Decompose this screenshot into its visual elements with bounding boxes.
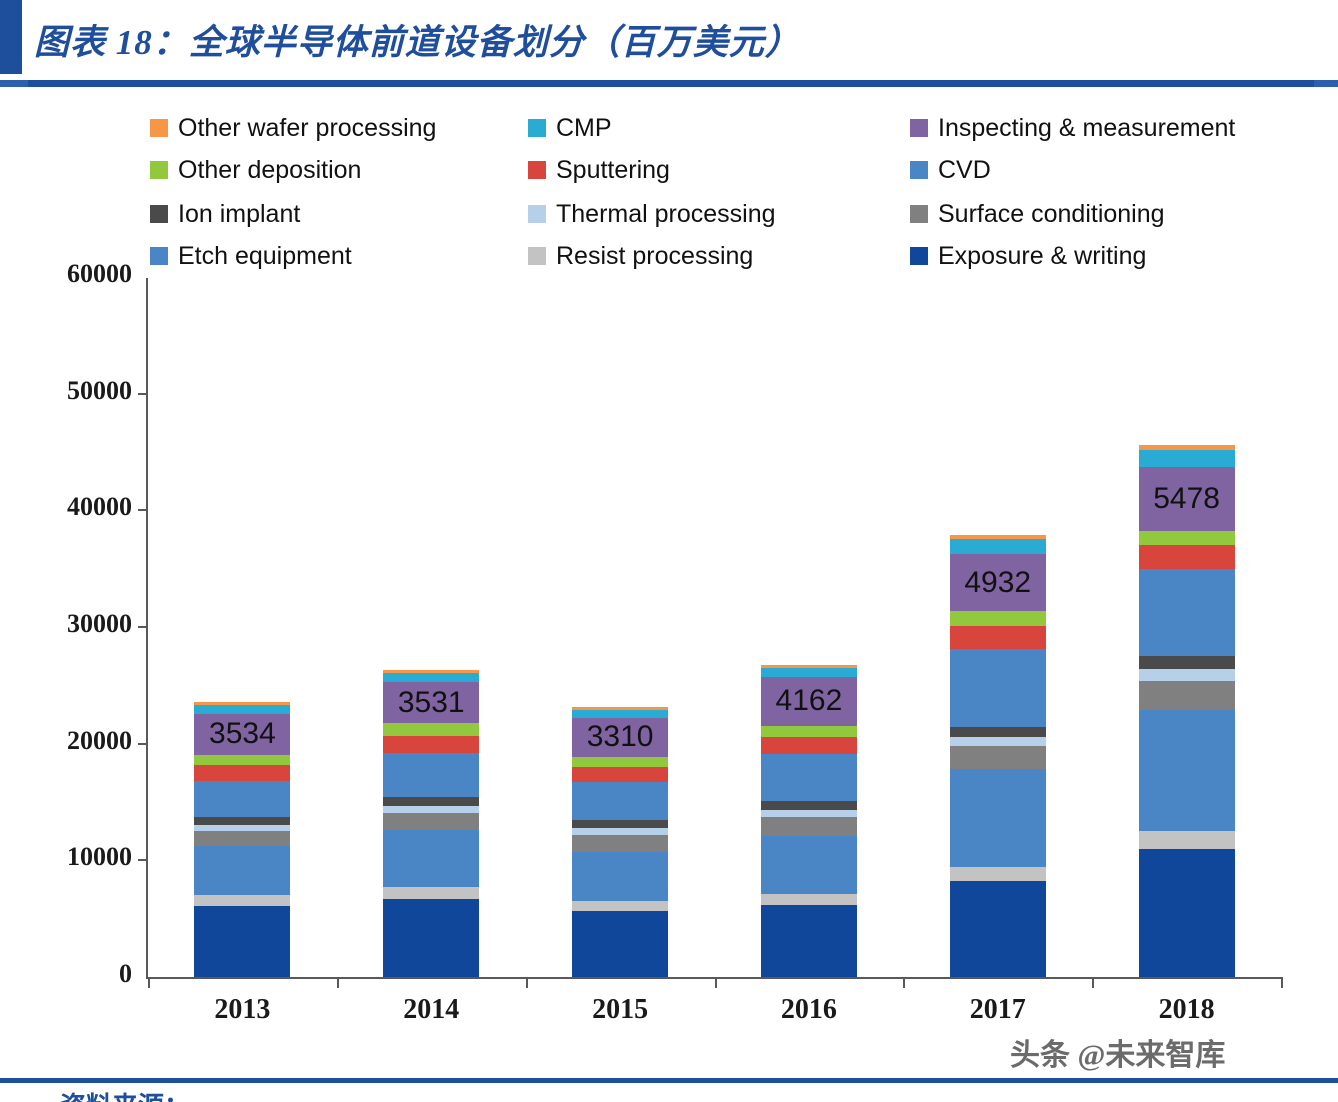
y-axis-tick-label: 60000: [12, 259, 132, 289]
legend-item-label: Inspecting & measurement: [938, 114, 1235, 143]
bar-segment[interactable]: [1139, 450, 1235, 468]
bar-segment[interactable]: [383, 887, 479, 899]
y-axis-tick-label: 0: [12, 959, 132, 989]
legend-item-label: Exposure & writing: [938, 242, 1146, 271]
x-axis-line: [146, 977, 1281, 979]
y-axis-line: [146, 278, 148, 978]
bar-segment[interactable]: 4162: [761, 677, 857, 726]
legend-swatch-icon: [528, 161, 546, 179]
bar-segment[interactable]: [194, 781, 290, 817]
legend-swatch-icon: [150, 119, 168, 137]
stacked-bar[interactable]: 5478: [1139, 445, 1235, 977]
bar-segment[interactable]: 3531: [383, 682, 479, 723]
bar-segment[interactable]: [1139, 849, 1235, 977]
bar-segment[interactable]: [194, 831, 290, 846]
bar-segment[interactable]: [950, 769, 1046, 867]
bar-segment[interactable]: [761, 894, 857, 905]
bar-segment[interactable]: [572, 901, 668, 911]
legend-item-label: Sputtering: [556, 156, 670, 185]
bar-segment[interactable]: [950, 867, 1046, 880]
bar-segment[interactable]: 3310: [572, 718, 668, 757]
bar-segment[interactable]: [1139, 831, 1235, 849]
y-axis-tick: [138, 859, 148, 861]
page-title: 图表 18：全球半导体前道设备划分（百万美元）: [34, 14, 801, 65]
bar-segment[interactable]: [761, 726, 857, 738]
x-axis-tick-label: 2016: [719, 994, 899, 1026]
x-axis-tick-label: 2014: [341, 994, 521, 1026]
legend-item-label: CMP: [556, 114, 612, 143]
bar-segment[interactable]: [950, 611, 1046, 626]
bar-segment[interactable]: [761, 668, 857, 677]
legend-item-label: Ion implant: [178, 200, 300, 229]
x-axis-tick: [715, 977, 717, 988]
bar-segment[interactable]: [383, 830, 479, 887]
bar-segment[interactable]: [194, 755, 290, 766]
y-axis-tick: [138, 509, 148, 511]
title-rule: [28, 80, 1314, 87]
legend-item[interactable]: CMP: [528, 108, 612, 148]
legend-swatch-icon: [528, 247, 546, 265]
y-axis-tick-label: 10000: [12, 842, 132, 872]
title-rule-right-cap: [1314, 80, 1338, 87]
bar-segment[interactable]: [383, 813, 479, 831]
legend-item[interactable]: Sputtering: [528, 150, 670, 190]
x-axis-tick: [903, 977, 905, 988]
legend-item-label: Thermal processing: [556, 200, 776, 229]
footer-source: 资料来源：: [60, 1086, 190, 1102]
legend-item-label: Other deposition: [178, 156, 361, 185]
legend-item[interactable]: CVD: [910, 150, 991, 190]
bar-segment[interactable]: 4932: [950, 554, 1046, 612]
bar-segment[interactable]: [1139, 531, 1235, 545]
bar-segment[interactable]: [950, 737, 1046, 746]
stacked-bar[interactable]: 3531: [383, 670, 479, 977]
legend-item[interactable]: Surface conditioning: [910, 194, 1165, 234]
bar-value-label: 4932: [950, 566, 1046, 600]
bar-segment[interactable]: [383, 736, 479, 754]
bar-segment[interactable]: [383, 673, 479, 682]
bar-segment[interactable]: [194, 817, 290, 825]
legend-item[interactable]: Thermal processing: [528, 194, 776, 234]
bar-segment[interactable]: [1139, 681, 1235, 710]
x-axis-tick-label: 2017: [908, 994, 1088, 1026]
legend-swatch-icon: [150, 161, 168, 179]
legend-item-label: Surface conditioning: [938, 200, 1165, 229]
chart-plot-area: 0100002000030000400005000060000 35343531…: [0, 270, 1338, 1010]
bar-value-label: 5478: [1139, 482, 1235, 516]
bar-segment[interactable]: [950, 746, 1046, 769]
bar-segment[interactable]: [572, 852, 668, 901]
x-axis-tick: [526, 977, 528, 988]
bar-value-label: 3534: [194, 717, 290, 751]
chart-legend: Other wafer processingCMPInspecting & me…: [150, 108, 1280, 268]
legend-swatch-icon: [528, 119, 546, 137]
legend-item-label: Resist processing: [556, 242, 753, 271]
x-axis-tick: [1281, 977, 1283, 988]
bar-segment[interactable]: [950, 626, 1046, 648]
legend-swatch-icon: [150, 205, 168, 223]
bar-segment[interactable]: [572, 835, 668, 852]
y-axis-tick-label: 40000: [12, 492, 132, 522]
bar-segment[interactable]: [950, 539, 1046, 554]
y-axis-tick: [138, 393, 148, 395]
bar-segment[interactable]: 5478: [1139, 467, 1235, 531]
bar-segment[interactable]: [761, 737, 857, 753]
bar-segment[interactable]: [383, 723, 479, 735]
bar-segment[interactable]: [761, 905, 857, 977]
bar-segment[interactable]: 3534: [194, 714, 290, 755]
legend-item[interactable]: Inspecting & measurement: [910, 108, 1235, 148]
bar-segment[interactable]: [1139, 710, 1235, 831]
bar-segment[interactable]: [194, 906, 290, 977]
legend-item[interactable]: Other deposition: [150, 150, 361, 190]
bar-segment[interactable]: [383, 753, 479, 797]
bar-segment[interactable]: [761, 754, 857, 802]
bar-segment[interactable]: [761, 810, 857, 817]
bar-segment[interactable]: [950, 727, 1046, 738]
bar-segment[interactable]: [194, 765, 290, 781]
legend-item-label: Other wafer processing: [178, 114, 436, 143]
bar-segment[interactable]: [761, 801, 857, 810]
chart-title-bar: 图表 18：全球半导体前道设备划分（百万美元）: [0, 0, 1338, 88]
legend-swatch-icon: [910, 119, 928, 137]
stacked-bar[interactable]: 3310: [572, 707, 668, 977]
bar-segment[interactable]: [572, 767, 668, 782]
y-axis-tick: [138, 743, 148, 745]
x-axis-tick: [337, 977, 339, 988]
bar-segment[interactable]: [572, 911, 668, 978]
bar-segment[interactable]: [194, 705, 290, 713]
y-axis-tick-label: 20000: [12, 726, 132, 756]
bar-segment[interactable]: [761, 836, 857, 894]
bar-segment[interactable]: [1139, 545, 1235, 568]
bar-segment[interactable]: [1139, 656, 1235, 669]
watermark: 头条 @未来智库: [1010, 1030, 1225, 1074]
legend-swatch-icon: [910, 205, 928, 223]
title-accent-block: [0, 0, 22, 74]
legend-item[interactable]: Other wafer processing: [150, 108, 436, 148]
bar-segment[interactable]: [572, 820, 668, 828]
x-axis-tick: [148, 977, 150, 988]
bar-segment[interactable]: [194, 846, 290, 895]
bar-value-label: 3310: [572, 720, 668, 754]
bar-segment[interactable]: [383, 797, 479, 806]
bar-segment[interactable]: [572, 710, 668, 718]
x-axis-tick-label: 2015: [530, 994, 710, 1026]
y-axis-labels: 0100002000030000400005000060000: [0, 270, 132, 1010]
bar-segment[interactable]: [1139, 669, 1235, 681]
x-axis-tick: [1092, 977, 1094, 988]
bar-segment[interactable]: [950, 881, 1046, 977]
bar-segment[interactable]: [572, 757, 668, 768]
title-rule-left-cap: [0, 80, 28, 87]
bar-segment[interactable]: [572, 782, 668, 821]
bar-value-label: 3531: [383, 686, 479, 720]
y-axis-tick: [138, 626, 148, 628]
legend-item-label: CVD: [938, 156, 991, 185]
x-axis-tick-label: 2018: [1097, 994, 1277, 1026]
bar-segment[interactable]: [194, 895, 290, 906]
legend-item[interactable]: Ion implant: [150, 194, 300, 234]
legend-swatch-icon: [528, 205, 546, 223]
y-axis-tick-label: 50000: [12, 376, 132, 406]
bar-segment[interactable]: [1139, 569, 1235, 657]
stacked-bar[interactable]: 4162: [761, 665, 857, 977]
legend-item-label: Etch equipment: [178, 242, 352, 271]
stacked-bar[interactable]: 4932: [950, 535, 1046, 977]
bar-segment[interactable]: [761, 817, 857, 836]
x-axis-tick-label: 2013: [152, 994, 332, 1026]
legend-swatch-icon: [150, 247, 168, 265]
bar-segment[interactable]: [950, 649, 1046, 727]
footer-rule: [0, 1078, 1338, 1083]
legend-swatch-icon: [910, 247, 928, 265]
bar-segment[interactable]: [383, 899, 479, 977]
legend-swatch-icon: [910, 161, 928, 179]
stacked-bar[interactable]: 3534: [194, 702, 290, 977]
y-axis-tick-label: 30000: [12, 609, 132, 639]
bar-value-label: 4162: [761, 684, 857, 718]
